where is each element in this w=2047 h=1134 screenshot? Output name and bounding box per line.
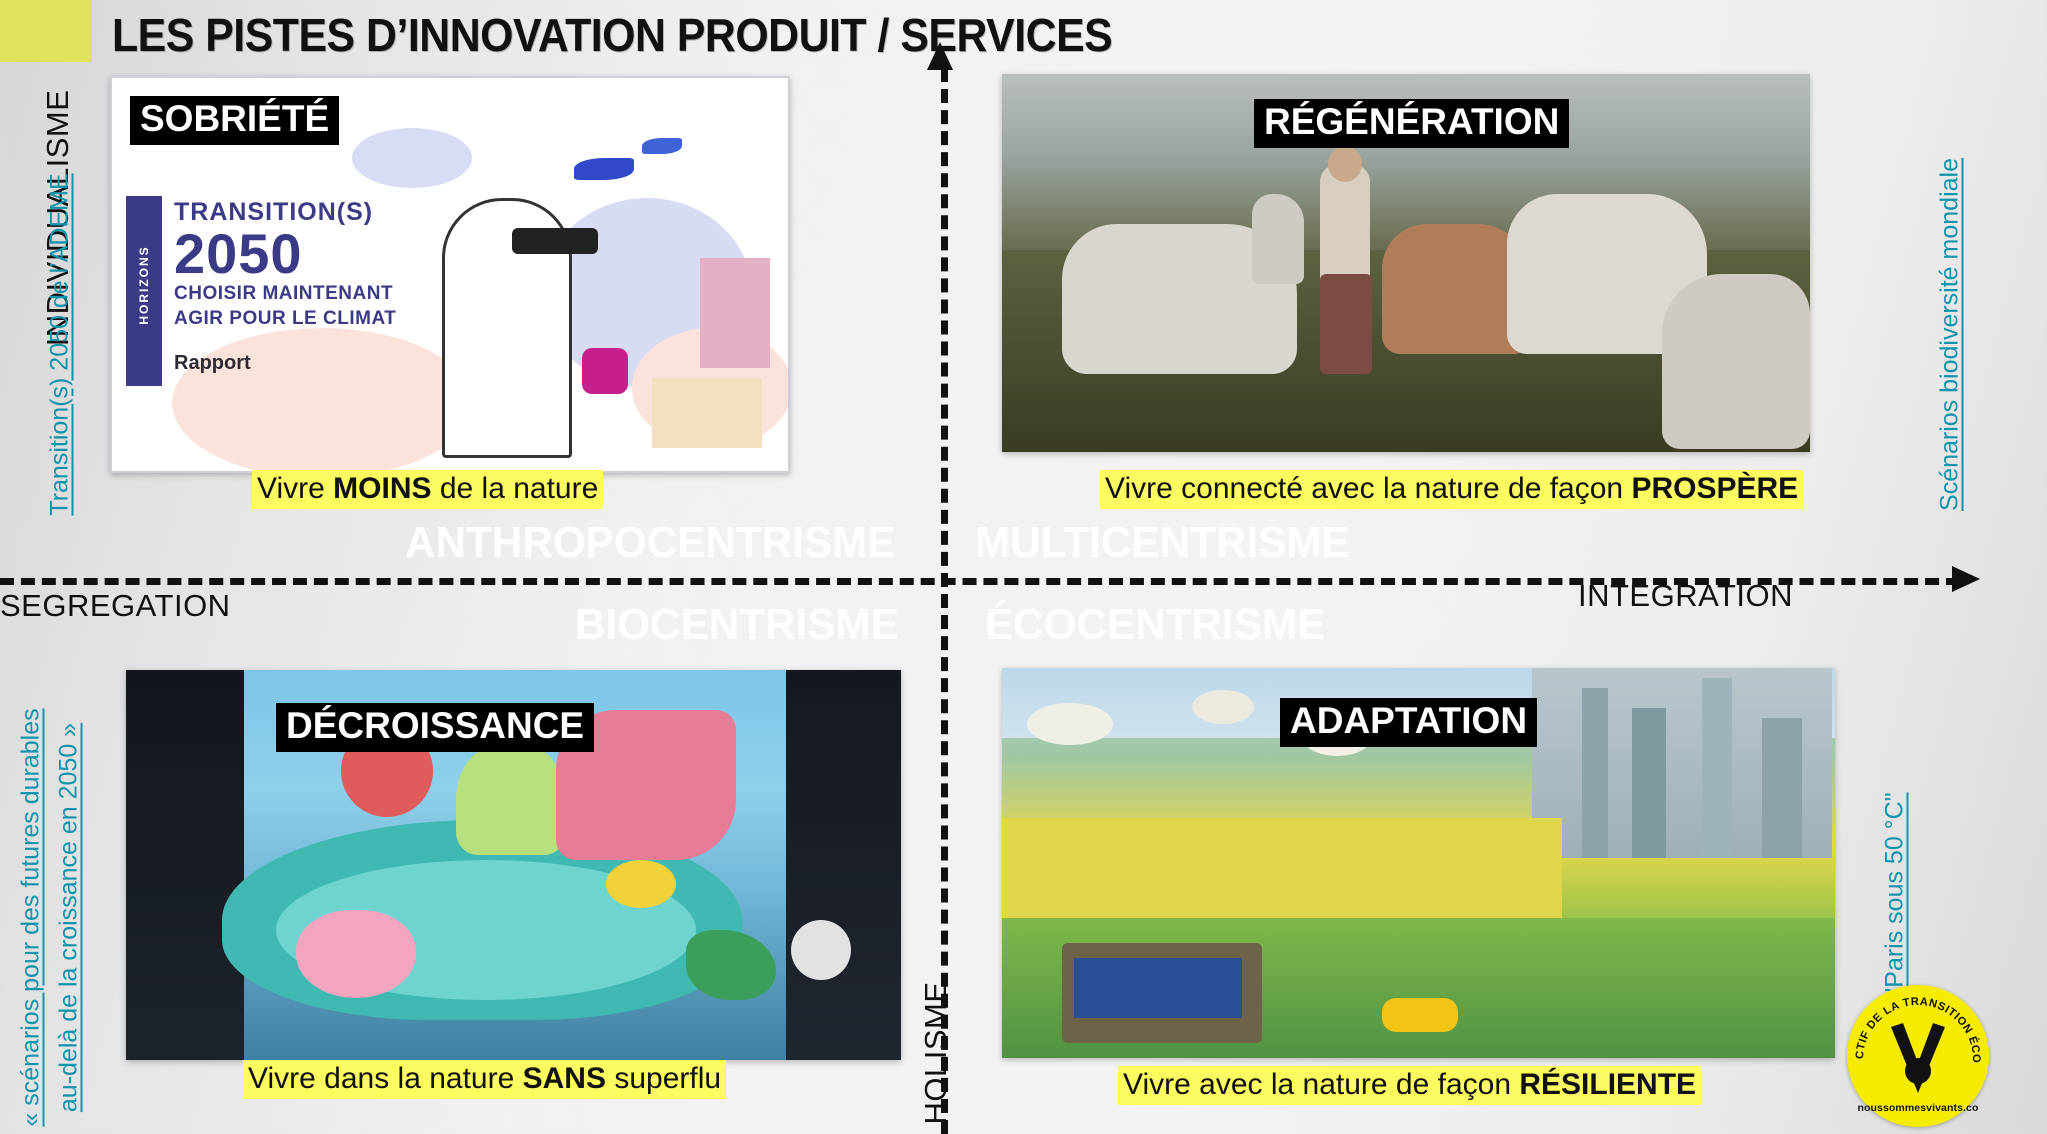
caption-suffix: superflu [606,1062,721,1095]
ademe-horizons-label: HORIZONS [137,205,151,365]
logo-url-text: noussommesvivants.co [1847,1102,1989,1114]
ademe-doc-type: Rapport [174,352,396,375]
decor-car-icon [582,348,628,394]
decor-person-head [1328,146,1362,182]
decor-yellow-vehicle [1382,998,1458,1032]
scenario-card-regeneration[interactable]: RÉGÉNÉRATION [1002,74,1810,452]
side-link-biodiversite[interactable]: Scénarios biodiversité mondiale [1936,115,1965,555]
decor-tower [1582,688,1608,858]
caption-bold: PROSPÈRE [1631,472,1798,505]
scenario-caption-regeneration: Vivre connecté avec la nature de façon P… [1100,472,1803,506]
scenario-card-adaptation[interactable]: ADAPTATION [1002,668,1835,1058]
scenario-image-sobriete: HORIZONS TRANSITION(S) 2050 CHOISIR MAIN… [110,76,790,473]
decor-plant [456,740,566,855]
decor-city-block [700,258,770,368]
decor-flower [296,910,416,998]
decor-butterfly-icon [574,158,634,180]
decor-bee-icon [606,860,676,908]
scenario-caption-decroissance: Vivre dans la nature SANS superflu [243,1062,726,1096]
decor-watering-can [686,930,776,1000]
decor-airship-icon [1027,703,1113,745]
scenario-tag-adaptation: ADAPTATION [1280,698,1537,747]
decor-solar-panel [1074,958,1242,1018]
title-color-swatch [0,0,92,62]
scenario-tag-sobriete: SOBRIÉTÉ [130,96,339,145]
vertical-axis-arrow-icon [927,42,953,70]
axis-label-integration: INTÉGRATION [1578,578,1793,614]
scenario-caption-sobriete: Vivre MOINS de la nature [252,472,603,506]
scenario-card-decroissance[interactable]: DÉCROISSANCE [126,670,901,1060]
side-link-line-1: « scénarios pour des futures durables [13,678,51,1134]
decor-airship-icon [1192,690,1254,724]
caption-bold: SANS [523,1062,606,1095]
axis-label-holisme: HOLISME [918,973,954,1133]
scenario-tag-regeneration: RÉGÉNÉRATION [1254,99,1569,148]
quadrant-label-ecocentrisme: ÉCOCENTRISME [985,600,1325,650]
side-link-decroissance-scenarios[interactable]: « scénarios pour des futures durables au… [13,678,88,1134]
decor-person-trousers [1320,274,1372,374]
quadrant-label-multicentrisme: MULTICENTRISME [975,518,1350,568]
side-link-line-2: au-delà de la croissance en 2050 » [50,678,88,1134]
quadrant-label-anthropocentrisme: ANTHROPOCENTRISME [405,518,895,568]
decor-city-block [652,378,762,448]
scenario-card-sobriete[interactable]: HORIZONS TRANSITION(S) 2050 CHOISIR MAIN… [110,76,790,473]
decor-horse-neck [1252,194,1304,284]
logo-collectif-transition-ecologique[interactable]: LE COLLECTIF DE LA TRANSITION ÉCOLOGIQUE… [1847,985,1989,1127]
decor-dark-right-wall [786,670,901,1060]
decor-radiation-icon [791,920,851,980]
scenario-caption-adaptation: Vivre avec la nature de façon RÉSILIENTE [1118,1068,1701,1102]
scenario-tag-decroissance: DÉCROISSANCE [276,703,594,752]
scenario-image-regeneration: RÉGÉNÉRATION [1002,74,1810,452]
logo-dot-icon [1905,1058,1931,1084]
horizontal-axis-arrow-icon [1952,566,1980,592]
caption-prefix: Vivre connecté avec la nature de façon [1105,472,1631,505]
caption-bold: RÉSILIENTE [1519,1068,1696,1101]
caption-suffix: de la nature [432,472,599,505]
ademe-subtitle-2: AGIR POUR LE CLIMAT [174,308,396,330]
ademe-cover-text: TRANSITION(S) 2050 CHOISIR MAINTENANT AG… [174,198,396,375]
page-title: LES PISTES D’INNOVATION PRODUIT / SERVIC… [112,8,1112,62]
side-link-ademe[interactable]: Transition(s) 2050 de l’ADEME [46,135,75,555]
caption-prefix: Vivre avec la nature de façon [1123,1068,1519,1101]
decor-binoculars-icon [512,228,598,254]
decor-butterfly-icon [642,138,682,154]
decor-cloud [352,128,472,188]
decor-tower [1702,678,1732,858]
caption-prefix: Vivre [257,472,333,505]
decor-horse-white [1662,274,1810,449]
caption-bold: MOINS [333,472,431,505]
axis-label-segregation: SEGREGATION [0,588,231,624]
decor-dark-left-wall [126,670,244,1060]
ademe-horizons-band: HORIZONS [126,196,162,386]
svg-text:LE COLLECTIF DE LA TRANSITION: LE COLLECTIF DE LA TRANSITION ÉCOLOGIQUE [1847,985,1982,1064]
ademe-subtitle-1: CHOISIR MAINTENANT [174,283,396,305]
decor-tower [1632,708,1666,858]
quadrant-label-biocentrisme: BIOCENTRISME [575,600,899,650]
caption-prefix: Vivre dans la nature [248,1062,523,1095]
decor-tower [1762,718,1802,858]
ademe-year: 2050 [174,227,396,280]
scenario-image-decroissance: DÉCROISSANCE [126,670,901,1060]
scenario-image-adaptation: ADAPTATION [1002,668,1835,1058]
